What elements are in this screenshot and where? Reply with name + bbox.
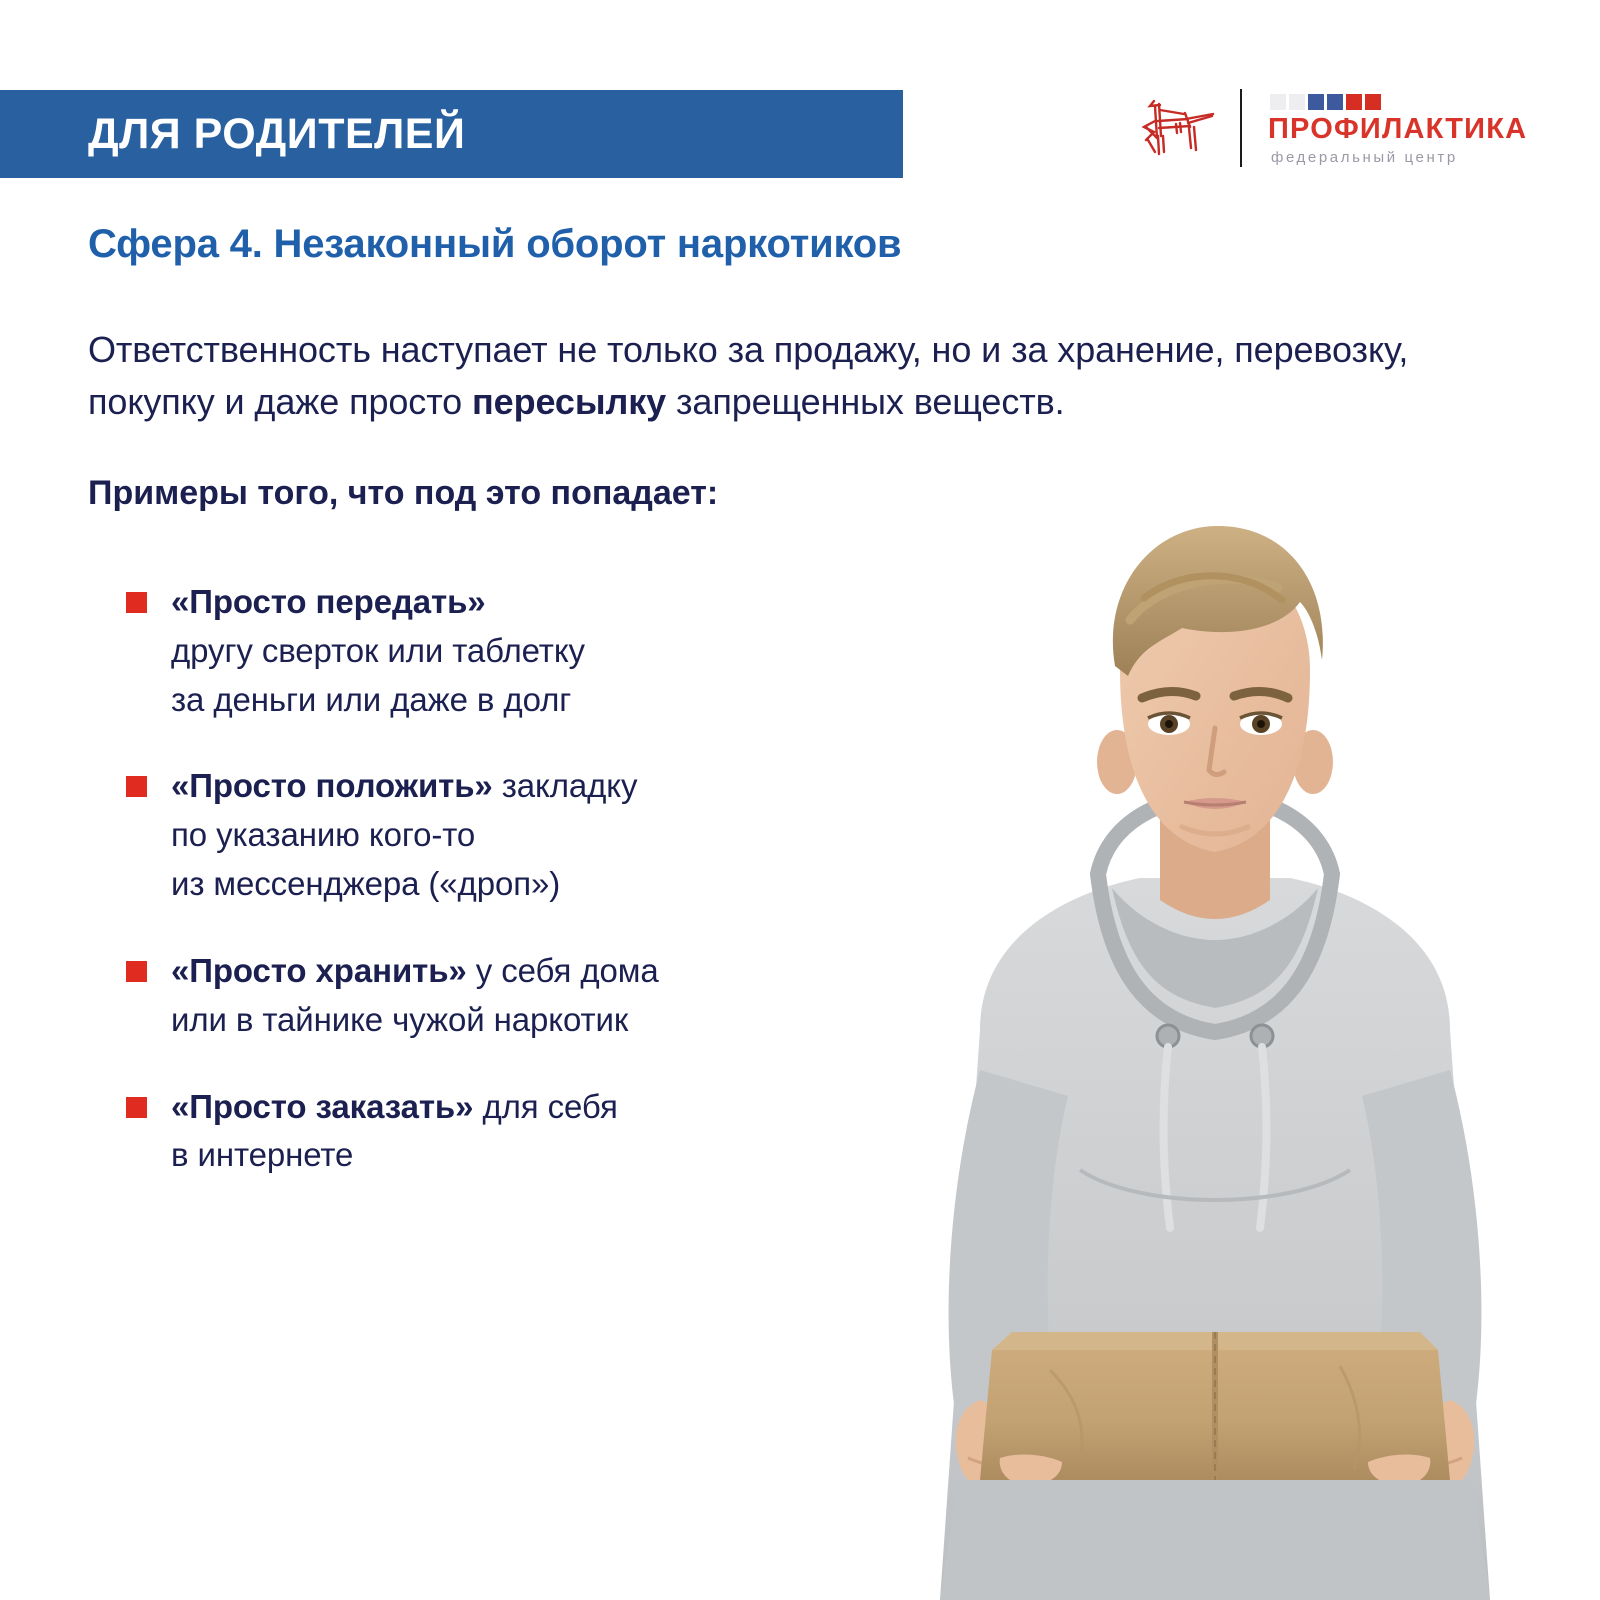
- horse-line-art-icon: [1110, 88, 1220, 168]
- lead-text-after: запрещенных веществ.: [666, 381, 1064, 422]
- logo-subtitle: федеральный центр: [1271, 150, 1458, 165]
- teen-with-parcel-photo: [830, 470, 1600, 1600]
- examples-list: «Просто передать»другу сверток или табле…: [126, 578, 886, 1218]
- photo-illustration: [830, 470, 1600, 1600]
- list-item-line: по указанию кого-то: [171, 816, 475, 853]
- list-item-lead: «Просто передать»: [171, 583, 486, 620]
- list-item-line: или в тайнике чужой наркотик: [171, 1001, 628, 1038]
- logo-divider: [1240, 89, 1242, 167]
- lead-text-emphasis: пересылку: [472, 381, 666, 422]
- list-item: «Просто заказать» для себяв интернете: [126, 1083, 886, 1181]
- header-banner: ДЛЯ РОДИТЕЛЕЙ: [0, 90, 903, 178]
- list-item-lead-rest: для себя: [473, 1088, 617, 1125]
- bullet-square-icon: [126, 1097, 147, 1118]
- list-item: «Просто хранить» у себя домаили в тайник…: [126, 947, 886, 1045]
- list-item-line: в интернете: [171, 1136, 353, 1173]
- list-item: «Просто положить» закладкупо указанию ко…: [126, 762, 886, 908]
- list-item-text: «Просто положить» закладкупо указанию ко…: [171, 762, 637, 908]
- list-item-lead: «Просто хранить»: [171, 952, 467, 989]
- brand-logo: ПРОФИЛАКТИКА федеральный центр: [1110, 78, 1480, 178]
- list-item-lead: «Просто заказать»: [171, 1088, 473, 1125]
- lead-paragraph: Ответственность наступает не только за п…: [88, 324, 1508, 428]
- logo-text-group: ПРОФИЛАКТИКА федеральный центр: [1268, 92, 1527, 165]
- list-item-line: из мессенджера («дроп»): [171, 865, 560, 902]
- list-item-text: «Просто хранить» у себя домаили в тайник…: [171, 947, 659, 1045]
- list-item-line: за деньги или даже в долг: [171, 681, 571, 718]
- list-item-text: «Просто заказать» для себяв интернете: [171, 1083, 618, 1181]
- infographic-page: ДЛЯ РОДИТЕЛЕЙ: [0, 0, 1600, 1600]
- list-item: «Просто передать»другу сверток или табле…: [126, 578, 886, 724]
- bullet-square-icon: [126, 592, 147, 613]
- bullet-square-icon: [126, 961, 147, 982]
- logo-brand-name: ПРОФИЛАКТИКА: [1268, 115, 1527, 144]
- logo-color-squares: [1270, 94, 1381, 110]
- list-item-lead: «Просто положить»: [171, 767, 493, 804]
- list-item-text: «Просто передать»другу сверток или табле…: [171, 578, 585, 724]
- examples-heading: Примеры того, что под это попадает:: [88, 474, 718, 513]
- section-title: Сфера 4. Незаконный оборот наркотиков: [88, 222, 901, 267]
- bullet-square-icon: [126, 776, 147, 797]
- list-item-lead-rest: закладку: [493, 767, 638, 804]
- header-banner-title: ДЛЯ РОДИТЕЛЕЙ: [0, 113, 465, 156]
- list-item-lead-rest: у себя дома: [467, 952, 659, 989]
- list-item-line: другу сверток или таблетку: [171, 632, 585, 669]
